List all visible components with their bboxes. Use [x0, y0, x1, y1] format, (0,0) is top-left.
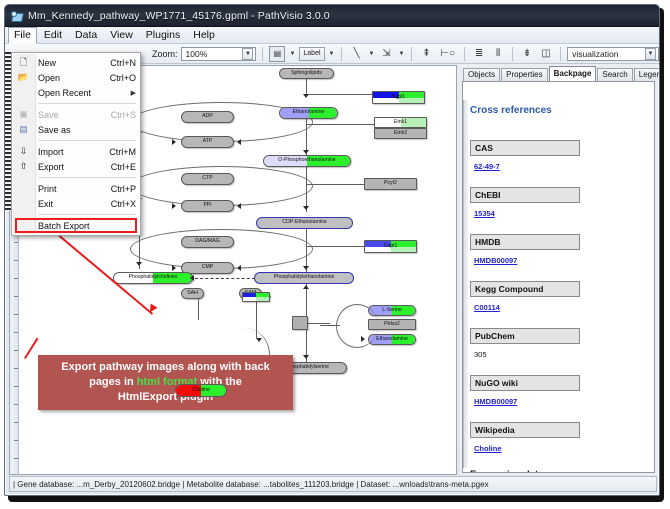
arrow-to-cmp-right: [237, 265, 241, 271]
menu-item-accelerator: Ctrl+O: [110, 73, 136, 83]
xref-db-label: NuGO wiki: [470, 375, 580, 391]
menu-plugins[interactable]: Plugins: [140, 27, 186, 44]
node-choline-selected[interactable]: Choline: [175, 384, 227, 397]
node-label: CTP: [202, 176, 212, 181]
node-label: Etnk1: [394, 120, 407, 125]
tab-objects[interactable]: Objects: [463, 68, 500, 82]
menu-data[interactable]: Data: [69, 27, 103, 44]
statusbar-text: | Gene database: ...m_Derby_20120602.bri…: [13, 480, 489, 489]
node-ethanolamine-top[interactable]: Ethanolamine: [279, 107, 338, 119]
new-document-icon: 🗋: [17, 56, 30, 69]
menu-item-save-as[interactable]: ▤ Save as: [12, 122, 140, 137]
node-ctp[interactable]: CTP: [181, 173, 234, 185]
datanode-chevron-down-icon[interactable]: ▼: [288, 51, 296, 57]
arrow-ptdser-down: [303, 355, 309, 359]
menu-item-save[interactable]: ▣ Save Ctrl+S: [12, 107, 140, 122]
xref-value-link[interactable]: HMDB00097: [474, 256, 517, 265]
interaction-chevron-down-icon[interactable]: ▼: [397, 51, 405, 57]
toolbar-separator-3: [411, 47, 412, 61]
dropdown-separator-1: [38, 103, 136, 104]
menu-item-batch-export[interactable]: Batch Export: [12, 218, 140, 233]
arrow-ptdetn-up: [303, 285, 309, 289]
tab-legend[interactable]: Legend: [634, 68, 660, 82]
save-as-icon: ▤: [17, 123, 30, 136]
xref-group-wikipedia: Wikipedia Choline: [470, 422, 651, 456]
import-icon: ⇩: [17, 145, 30, 158]
menu-item-exit[interactable]: Exit Ctrl+X: [12, 196, 140, 211]
edge-etnk-to-backbone: [307, 124, 374, 125]
visualization-chevron-down-icon[interactable]: ▼: [645, 48, 656, 60]
visualization-combobox[interactable]: visualization ▼: [567, 47, 659, 61]
zoom-value: 100%: [186, 49, 208, 59]
node-label: Cept1: [384, 244, 398, 249]
align-top-button[interactable]: ⇞: [418, 46, 434, 62]
node-label: Etnk2: [394, 131, 407, 136]
node-atp[interactable]: ATP: [181, 136, 234, 148]
node-label: Ethanolamine: [293, 110, 325, 115]
application-window: Mm_Kennedy_pathway_WP1771_45176.gpml - P…: [4, 4, 660, 496]
menu-item-label: Batch Export: [38, 221, 90, 231]
dropdown-left-edge-strip: [5, 52, 11, 211]
label-tool-text: Label: [303, 50, 320, 57]
dropdown-separator-4: [38, 214, 136, 215]
menu-help[interactable]: Help: [187, 27, 221, 44]
tab-backpage[interactable]: Backpage: [549, 66, 597, 82]
arrow-to-ethanolamine-low: [361, 336, 365, 342]
menu-item-import[interactable]: ⇩ Import Ctrl+M: [12, 144, 140, 159]
chevron-down-icon[interactable]: ▼: [242, 48, 253, 60]
xref-db-label: ChEBI: [470, 187, 580, 203]
node-label: CMP: [202, 265, 214, 270]
xref-value-link[interactable]: C00114: [474, 303, 500, 312]
toolbar-separator-5: [512, 47, 513, 61]
node-label: Sgpl1: [392, 95, 405, 100]
visualization-value: visualization: [572, 49, 618, 59]
node-label: Phosphatidylethanolamine: [274, 275, 335, 280]
align-left-icon: ⊢○: [440, 49, 455, 59]
tab-search[interactable]: Search: [597, 68, 632, 82]
xref-db-label: Kegg Compound: [470, 281, 580, 297]
menubar: File Edit Data View Plugins Help: [5, 27, 659, 44]
menu-item-print[interactable]: Print Ctrl+P: [12, 181, 140, 196]
xref-value-link[interactable]: 62-49-7: [474, 162, 500, 171]
arrow-to-ppi-left: [172, 203, 176, 209]
node-etnk1[interactable]: Etnk1: [374, 117, 427, 128]
node-label: L-Serine: [382, 308, 402, 313]
menu-item-label: Import: [38, 147, 64, 157]
arrow-to-ppi-right: [237, 203, 241, 209]
distribute-vertical-icon: ≣: [475, 49, 483, 59]
annotation-pointer-line-2: [24, 338, 38, 359]
node-label: Ptdss2: [384, 322, 400, 327]
xref-db-label: PubChem: [470, 328, 580, 344]
xref-value-link[interactable]: Choline: [474, 444, 502, 453]
backpage-content: Cross references CAS 62-49-7 ChEBI 15354…: [470, 87, 651, 472]
node-pcyt2[interactable]: Pcyt2: [364, 178, 417, 190]
dropdown-separator-3: [38, 177, 136, 178]
interaction-arrow-icon: ⇲: [382, 49, 390, 59]
edge-sah-down: [198, 298, 199, 320]
curve-serine-etn: [336, 304, 378, 348]
menu-item-label: Export: [38, 162, 64, 172]
node-label: Pcyt2: [384, 181, 397, 186]
edge-sgpl1-to-backbone: [306, 94, 374, 95]
distribute-horizontal-button[interactable]: ⦀: [490, 46, 506, 62]
node-sphingolipids[interactable]: Sphingolipids: [279, 68, 334, 79]
arrow-sam-down: [256, 338, 262, 342]
annotation-line-1: Export pathway images along with back: [61, 360, 269, 375]
node-dagmag[interactable]: DAG/MAG: [181, 236, 234, 248]
save-disk-icon: ▣: [17, 108, 30, 121]
xref-group-nugo-wiki: NuGO wiki HMDB00097: [470, 375, 651, 409]
node-pemt[interactable]: [242, 292, 270, 302]
arrow-cdpetn-down: [303, 266, 309, 270]
menu-item-label: Print: [38, 184, 57, 194]
node-sah[interactable]: SAH: [181, 288, 204, 299]
statusbar: | Gene database: ...m_Derby_20120602.bri…: [9, 476, 657, 492]
node-ethanolamine-low[interactable]: Ethanolamine: [368, 334, 416, 345]
xref-db-label: HMDB: [470, 234, 580, 250]
xref-db-label: CAS: [470, 140, 580, 156]
edge-cept1-to-backbone: [307, 246, 364, 247]
node-ophosphoethanolamine[interactable]: O-Phosphoethanolamine: [263, 155, 351, 167]
edge-ptdetn-to-ptdcholine: [195, 278, 255, 279]
datanode-tool-button[interactable]: ▤: [269, 46, 285, 62]
interaction-tool-button[interactable]: ⇲: [378, 46, 394, 62]
arrow-to-atp-right: [237, 139, 241, 145]
label-tool-button[interactable]: Label: [299, 47, 324, 61]
align-left-button[interactable]: ⊢○: [437, 46, 458, 62]
line-icon: ╲: [353, 49, 359, 59]
node-phosphatidylcholines[interactable]: Phosphatidylcholines: [113, 272, 193, 284]
node-ppi[interactable]: PPi: [181, 200, 234, 212]
xref-group-chebi: ChEBI 15354: [470, 187, 651, 221]
menu-edit[interactable]: Edit: [38, 27, 68, 44]
export-icon: ⇧: [17, 160, 30, 173]
menu-item-label: Exit: [38, 199, 53, 209]
arrow-ophospho-down: [303, 206, 309, 210]
cross-references-title: Cross references: [470, 105, 651, 116]
align-top-icon: ⇞: [422, 49, 430, 59]
node-label: DAG/MAG: [195, 239, 220, 244]
menu-item-accelerator: Ctrl+E: [111, 162, 136, 172]
window-title: Mm_Kennedy_pathway_WP1771_45176.gpml - P…: [28, 10, 330, 22]
side-panel: Objects Properties Backpage Search Legen…: [460, 65, 658, 475]
window-titlebar: Mm_Kennedy_pathway_WP1771_45176.gpml - P…: [5, 5, 659, 27]
edge-pcyt2-to-backbone: [307, 184, 364, 185]
common-height-button[interactable]: ◫: [538, 46, 554, 62]
screenshot-root: Mm_Kennedy_pathway_WP1771_45176.gpml - P…: [0, 0, 670, 509]
annotation-callout: Export pathway images along with back pa…: [38, 355, 293, 410]
node-label: Sphingolipids: [291, 71, 322, 76]
distribute-vertical-button[interactable]: ≣: [471, 46, 487, 62]
node-label: SAH: [187, 291, 198, 296]
common-width-icon: ⇟: [523, 49, 531, 59]
line-chevron-down-icon[interactable]: ▼: [367, 51, 375, 57]
zoom-label: Zoom:: [152, 49, 178, 59]
toolbar-separator-1: [262, 47, 263, 61]
node-phosphatidylethanolamine[interactable]: Phosphatidylethanolamine: [254, 272, 354, 284]
dropdown-separator-2: [38, 140, 136, 141]
file-menu-dropdown[interactable]: 🗋 New Ctrl+N 📂 Open Ctrl+O Open Recent ▶…: [11, 52, 141, 236]
menu-item-accelerator: Ctrl+S: [111, 110, 136, 120]
annotation-pointer-arrowhead: [146, 303, 157, 314]
menu-view[interactable]: View: [104, 27, 139, 44]
node-label: ATP: [203, 139, 213, 144]
menu-item-label: Open Recent: [38, 88, 91, 98]
arrow-to-atp-left: [172, 139, 176, 145]
zoom-combobox[interactable]: 100% ▼: [181, 47, 257, 61]
annotation-line-2-prefix: pages in: [89, 376, 137, 388]
label-chevron-down-icon[interactable]: ▼: [328, 51, 336, 57]
pathvisio-app-icon: [11, 10, 23, 22]
distribute-horizontal-icon: ⦀: [496, 49, 500, 59]
xref-group-cas: CAS 62-49-7: [470, 140, 651, 174]
xref-value-link[interactable]: HMDB00097: [474, 397, 517, 406]
menu-item-accelerator: Ctrl+X: [111, 199, 136, 209]
menu-item-export[interactable]: ⇧ Export Ctrl+E: [12, 159, 140, 174]
folder-open-icon: 📂: [17, 71, 30, 84]
edge-curve-to-anchor: [320, 325, 340, 326]
node-cept1[interactable]: Cept1: [364, 240, 417, 253]
backpage-panel[interactable]: Cross references CAS 62-49-7 ChEBI 15354…: [462, 81, 655, 473]
menu-item-accelerator: Ctrl+P: [111, 184, 136, 194]
genenode-icon: ▤: [274, 49, 282, 58]
xref-group-kegg-compound: Kegg Compound C00114: [470, 281, 651, 315]
common-height-icon: ◫: [541, 49, 550, 59]
node-label: Phosphatidylcholines: [129, 275, 178, 280]
node-label: Choline: [192, 388, 210, 393]
node-unlabeled-anchor[interactable]: [292, 316, 308, 330]
menu-item-label: New: [38, 58, 56, 68]
edge-anchor-right: [308, 323, 330, 324]
arrow-ptdcholine-left: [190, 275, 194, 281]
expression-data-title: Expression data: [470, 469, 651, 473]
xref-db-label: Wikipedia: [470, 422, 580, 438]
node-label: CDP-Ethanolamine: [282, 220, 326, 225]
node-label: Ethanolamine: [376, 337, 408, 342]
arrow-ethanolamine-down: [303, 150, 309, 154]
node-label: ADP: [202, 114, 213, 119]
node-sgpl1[interactable]: Sgpl1: [372, 91, 425, 104]
node-etnk2[interactable]: Etnk2: [374, 128, 427, 139]
node-cdpethanolamine[interactable]: CDP-Ethanolamine: [256, 217, 353, 229]
arrow-sphingo-down: [303, 94, 309, 98]
node-label: PPi: [203, 203, 211, 208]
xref-value-link[interactable]: 15354: [474, 209, 495, 218]
panel-scrollbar[interactable]: [463, 100, 468, 468]
menu-item-accelerator: Ctrl+M: [109, 147, 136, 157]
menu-item-open[interactable]: 📂 Open Ctrl+O: [12, 70, 140, 85]
chevron-right-icon: ▶: [131, 89, 136, 97]
menu-item-label: Open: [38, 73, 60, 83]
node-adp[interactable]: ADP: [181, 111, 234, 123]
menu-item-label: Save as: [38, 125, 71, 135]
toolbar-separator-2: [341, 47, 342, 61]
menu-item-new[interactable]: 🗋 New Ctrl+N: [12, 55, 140, 70]
line-tool-button[interactable]: ╲: [348, 46, 364, 62]
menu-item-accelerator: Ctrl+N: [110, 58, 136, 68]
arrow-cdpcholine-down: [136, 262, 142, 266]
menu-file[interactable]: File: [8, 27, 37, 44]
xref-group-hmdb: HMDB HMDB00097: [470, 234, 651, 268]
toolbar-separator-4: [464, 47, 465, 61]
xref-group-pubchem: PubChem 305: [470, 328, 651, 362]
arrow-to-cmp-left: [172, 265, 176, 271]
common-width-button[interactable]: ⇟: [519, 46, 535, 62]
menu-item-open-recent[interactable]: Open Recent ▶: [12, 85, 140, 100]
side-panel-tabs: Objects Properties Backpage Search Legen…: [460, 65, 658, 81]
menu-item-label: Save: [38, 110, 59, 120]
xref-value-text: 305: [474, 350, 487, 359]
toolbar-separator-6: [560, 47, 561, 61]
node-label: O-Phosphoethanolamine: [278, 158, 335, 163]
tab-properties[interactable]: Properties: [501, 68, 547, 82]
